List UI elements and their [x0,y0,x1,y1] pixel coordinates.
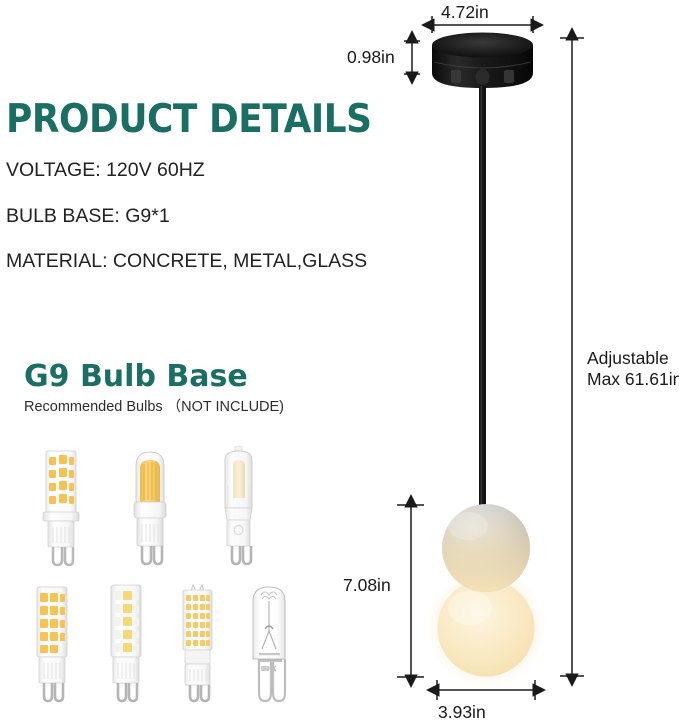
adjustable-length-dimension [560,38,584,676]
globe-height-label: 7.08in [343,575,391,596]
spec-bulb-base: BULB BASE: G9*1 [6,207,406,227]
globe-width-dimension [437,680,535,700]
product-detail-infographic: PRODUCT DETAILS VOLTAGE: 120V 60HZ BULB … [0,0,679,727]
bulb-base-section: G9 Bulb Base Recommended Bulbs （NOT INCL… [24,362,424,415]
adjustable-line-1: Adjustable [587,348,669,368]
spec-material: MATERIAL: CONCRETE, METAL,GLASS [6,252,406,272]
product-details-section: PRODUCT DETAILS VOLTAGE: 120V 60HZ BULB … [6,100,406,298]
g9-led-smd-warm-bulb [24,583,80,705]
g9-led-smd-dense-bulb [169,583,225,705]
product-details-heading: PRODUCT DETAILS [6,100,374,139]
globe-height-dimension [397,505,424,677]
spec-voltage: VOLTAGE: 120V 60HZ [6,161,406,181]
concrete-sphere-shade [442,504,530,592]
bulb-base-subheading: Recommended Bulbs （NOT INCLUDE) [24,400,424,415]
glass-globe-shade [426,568,546,688]
g9-halogen-clear-bulb [239,583,299,705]
bulb-base-heading: G9 Bulb Base [24,362,424,392]
bulb-gallery-row-1 [10,448,300,568]
g9-cob-filament-bulb [120,448,180,568]
globe-width-label: 3.93in [438,702,486,723]
canopy-width-label: 4.72in [441,2,489,23]
g9-frosted-capsule-bulb [210,446,268,568]
g9-led-smd-clear-bulb [32,448,90,568]
hanging-cord [479,86,486,511]
bulb-gallery-row-2 [6,583,296,705]
canopy-height-dimension [404,41,420,74]
ceiling-canopy [432,33,533,89]
g9-led-smd-cool-bulb [98,583,154,705]
canopy-height-label: 0.98in [347,47,395,68]
adjustable-length-label: Adjustable Max 61.61in [587,348,679,389]
adjustable-line-2: Max 61.61in [587,369,679,389]
